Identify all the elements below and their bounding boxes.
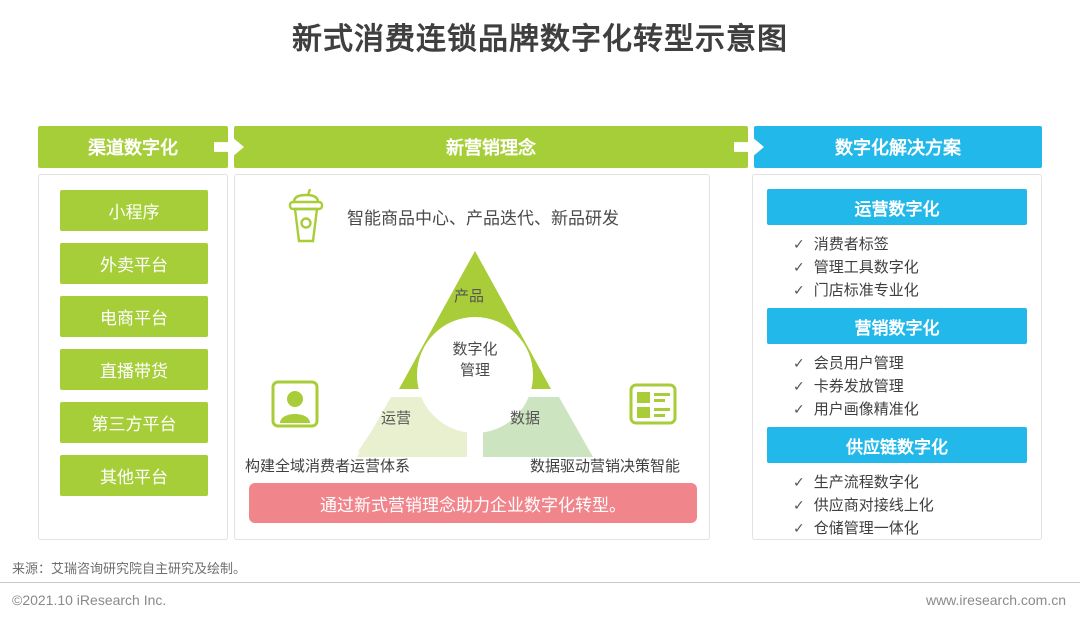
triangle-center-line1: 数字化	[355, 339, 595, 360]
solution-item-list: ✓生产流程数字化 ✓供应商对接线上化 ✓仓储管理一体化	[767, 471, 1027, 540]
list-item-label: 门店标准专业化	[814, 282, 919, 299]
check-icon: ✓	[793, 259, 805, 275]
list-item: ✓供应商对接线上化	[793, 494, 1027, 517]
solution-group-marketing: 营销数字化 ✓会员用户管理 ✓卡券发放管理 ✓用户画像精准化	[767, 308, 1027, 421]
infographic-page: 新式消费连锁品牌数字化转型示意图 渠道数字化 新营销理念 数字化解决方案 小程序…	[0, 0, 1080, 619]
caption-left: 构建全域消费者运营体系	[245, 455, 410, 476]
triangle-label-data: 数据	[510, 407, 540, 428]
solution-panel: 运营数字化 ✓消费者标签 ✓管理工具数字化 ✓门店标准专业化 营销数字化 ✓会员…	[752, 174, 1042, 540]
list-item: ✓管理工具数字化	[793, 256, 1027, 279]
product-tagline: 智能商品中心、产品迭代、新品研发	[347, 204, 619, 229]
caption-right: 数据驱动营销决策智能	[530, 455, 680, 476]
triangle-center-line2: 管理	[355, 360, 595, 381]
list-item[interactable]: 直播带货	[60, 349, 208, 390]
check-icon: ✓	[793, 282, 805, 298]
solution-item-list: ✓消费者标签 ✓管理工具数字化 ✓门店标准专业化	[767, 233, 1027, 302]
stage-header-channel: 渠道数字化	[38, 126, 228, 168]
footer-divider	[0, 582, 1080, 583]
check-icon: ✓	[793, 355, 805, 371]
list-item-label: 会员用户管理	[814, 355, 904, 372]
list-item: ✓生产流程数字化	[793, 471, 1027, 494]
list-item-label: 消费者标签	[814, 236, 889, 253]
source-note: 来源：艾瑞咨询研究院自主研究及绘制。	[12, 558, 246, 577]
stage-header-band: 渠道数字化 新营销理念 数字化解决方案	[38, 126, 1042, 168]
list-item[interactable]: 电商平台	[60, 296, 208, 337]
triangle-label-product: 产品	[454, 285, 484, 306]
list-item: ✓门店标准专业化	[793, 279, 1027, 302]
check-icon: ✓	[793, 378, 805, 394]
channel-panel: 小程序 外卖平台 电商平台 直播带货 第三方平台 其他平台	[38, 174, 228, 540]
stage-header-marketing: 新营销理念	[234, 126, 748, 168]
list-item[interactable]: 小程序	[60, 190, 208, 231]
list-item[interactable]: 外卖平台	[60, 243, 208, 284]
page-title: 新式消费连锁品牌数字化转型示意图	[0, 14, 1080, 58]
list-item-label: 生产流程数字化	[814, 474, 919, 491]
website-url: www.iresearch.com.cn	[926, 592, 1066, 608]
check-icon: ✓	[793, 474, 805, 490]
solution-group-operations: 运营数字化 ✓消费者标签 ✓管理工具数字化 ✓门店标准专业化	[767, 189, 1027, 302]
solution-group-title: 运营数字化	[767, 189, 1027, 225]
drink-cup-icon	[279, 189, 331, 247]
list-item: ✓用户画像精准化	[793, 398, 1027, 421]
check-icon: ✓	[793, 236, 805, 252]
list-item-label: 管理工具数字化	[814, 259, 919, 276]
check-icon: ✓	[793, 401, 805, 417]
list-item-label: 供应商对接线上化	[814, 497, 934, 514]
solution-group-title: 供应链数字化	[767, 427, 1027, 463]
summary-banner: 通过新式营销理念助力企业数字化转型。	[249, 483, 697, 523]
list-item[interactable]: 第三方平台	[60, 402, 208, 443]
check-icon: ✓	[793, 497, 805, 513]
solution-group-title: 营销数字化	[767, 308, 1027, 344]
solution-group-supplychain: 供应链数字化 ✓生产流程数字化 ✓供应商对接线上化 ✓仓储管理一体化	[767, 427, 1027, 540]
copyright-text: ©2021.10 iResearch Inc.	[12, 592, 166, 608]
list-item: ✓卡券发放管理	[793, 375, 1027, 398]
list-item[interactable]: 其他平台	[60, 455, 208, 496]
stage-header-solution: 数字化解决方案	[754, 126, 1042, 168]
list-item-label: 仓储管理一体化	[814, 520, 919, 537]
marketing-concept-panel: 智能商品中心、产品迭代、新品研发 产品 运营 数据 数字化 管理	[234, 174, 710, 540]
list-item-label: 卡券发放管理	[814, 378, 904, 395]
list-item-label: 用户画像精准化	[814, 401, 919, 418]
triangle-center-label: 数字化 管理	[355, 339, 595, 381]
list-item: ✓仓储管理一体化	[793, 517, 1027, 540]
person-avatar-icon	[271, 380, 319, 428]
channel-chip-list: 小程序 外卖平台 电商平台 直播带货 第三方平台 其他平台	[60, 190, 208, 496]
triangle-diagram: 产品 运营 数据 数字化 管理	[355, 247, 595, 469]
list-item: ✓消费者标签	[793, 233, 1027, 256]
check-icon: ✓	[793, 520, 805, 536]
triangle-label-ops: 运营	[381, 407, 411, 428]
article-list-icon	[629, 380, 677, 428]
solution-item-list: ✓会员用户管理 ✓卡券发放管理 ✓用户画像精准化	[767, 352, 1027, 421]
list-item: ✓会员用户管理	[793, 352, 1027, 375]
